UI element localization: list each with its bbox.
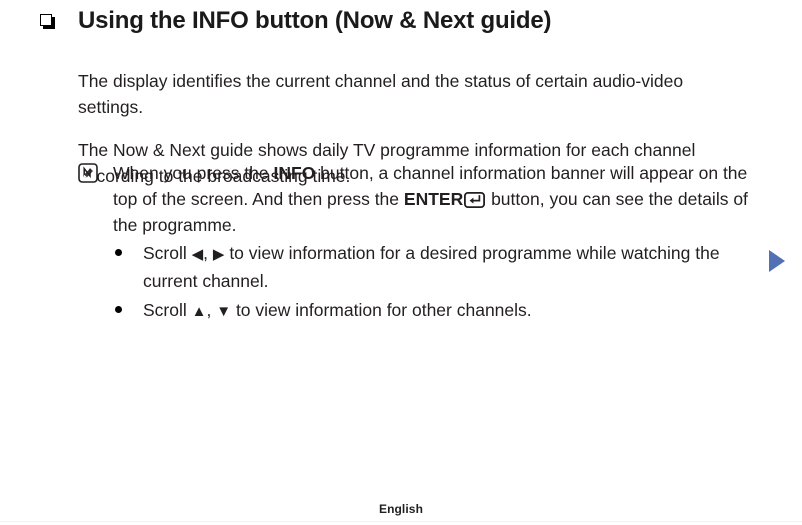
arrow-right-icon: ▶: [213, 246, 225, 263]
section-heading: Using the INFO button (Now & Next guide): [0, 6, 760, 36]
list-item-separator: ,: [203, 243, 213, 263]
info-keyword: INFO: [274, 163, 316, 183]
note-block: When you press the INFO button, a channe…: [78, 160, 758, 238]
list-item: Scroll ▲, ▼ to view information for othe…: [115, 297, 775, 325]
page-title: Using the INFO button (Now & Next guide): [78, 6, 551, 36]
page-footer: English: [0, 500, 802, 518]
round-bullet-icon: [115, 306, 122, 313]
enter-keyword: ENTER: [404, 189, 463, 209]
square-bullet-icon: [40, 14, 55, 29]
list-item-prefix: Scroll: [143, 300, 192, 320]
list-item-suffix: to view information for a desired progra…: [143, 243, 720, 291]
triangle-right-icon[interactable]: [769, 250, 785, 272]
note-text: When you press the INFO button, a channe…: [113, 160, 758, 238]
arrow-up-icon: ▲: [192, 303, 207, 320]
footer-language-label: English: [379, 502, 423, 516]
note-text-part1: When you press the: [113, 163, 274, 183]
paragraph-1: The display identifies the current chann…: [78, 68, 750, 120]
footer-divider: [0, 521, 802, 522]
manual-page: Using the INFO button (Now & Next guide)…: [0, 0, 802, 525]
arrow-left-icon: ◀: [192, 246, 204, 263]
list-item-text: Scroll ▲, ▼ to view information for othe…: [143, 297, 758, 325]
note-pencil-icon: [78, 163, 98, 183]
round-bullet-icon: [115, 249, 122, 256]
scroll-instruction-list: Scroll ◀, ▶ to view information for a de…: [115, 240, 775, 328]
enter-key-icon: [464, 189, 485, 205]
list-item-prefix: Scroll: [143, 243, 192, 263]
list-item-separator: ,: [206, 300, 216, 320]
list-item-text: Scroll ◀, ▶ to view information for a de…: [143, 240, 758, 294]
list-item: Scroll ◀, ▶ to view information for a de…: [115, 240, 775, 294]
arrow-down-icon: ▼: [216, 303, 231, 320]
list-item-suffix: to view information for other channels.: [231, 300, 532, 320]
